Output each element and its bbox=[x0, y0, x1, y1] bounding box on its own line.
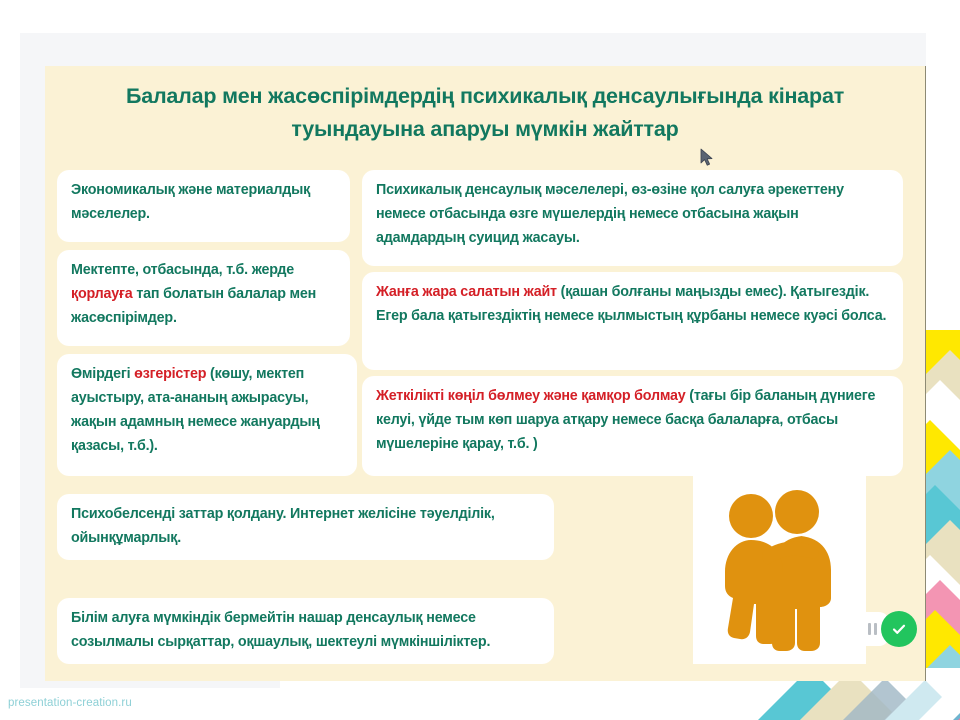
card-substances-text: Психобелсенді заттар қолдану. Интернет ж… bbox=[71, 506, 495, 546]
card-economic-text: Экономикалық және материалдық мәселелер. bbox=[71, 182, 310, 222]
card-bullying: Мектепте, отбасында, т.б. жерде қорлауға… bbox=[57, 250, 350, 346]
pause-icon-bar-left bbox=[868, 623, 871, 635]
card-traumatic-event: Жанға жара салатын жайт (қашан болғаны м… bbox=[362, 272, 903, 370]
card-trauma-highlight: Жанға жара салатын жайт bbox=[376, 284, 557, 300]
card-lifechange-lead: Өмірдегі bbox=[71, 366, 134, 382]
mouse-cursor bbox=[700, 148, 716, 173]
slide-title: Балалар мен жасөспірімдердің психикалық … bbox=[67, 80, 903, 146]
card-bullying-lead: Мектепте, отбасында, т.б. жерде bbox=[71, 262, 294, 278]
card-bullying-highlight: қорлауға bbox=[71, 286, 133, 302]
slide-canvas: Балалар мен жасөспірімдердің психикалық … bbox=[45, 66, 925, 681]
check-icon bbox=[890, 620, 908, 638]
card-life-changes: Өмірдегі өзгерістер (көшу, мектеп ауысты… bbox=[57, 354, 357, 476]
card-education-text: Білім алуға мүмкіндік бермейтін нашар де… bbox=[71, 610, 490, 650]
card-lifechange-highlight: өзгерістер bbox=[134, 366, 206, 382]
two-people-embracing-icon bbox=[705, 484, 855, 654]
watermark: presentation-creation.ru bbox=[8, 697, 132, 709]
card-neglect-highlight: Жеткілікті көңіл бөлмеу және қамқор болм… bbox=[376, 388, 686, 404]
card-economic-problems: Экономикалық және материалдық мәселелер. bbox=[57, 170, 350, 242]
confirm-button[interactable] bbox=[881, 611, 917, 647]
card-mental-health-suicide: Психикалық денсаулық мәселелері, өз-өзін… bbox=[362, 170, 903, 266]
card-education-access: Білім алуға мүмкіндік бермейтін нашар де… bbox=[57, 598, 554, 664]
mouse-pointer-icon bbox=[700, 148, 716, 168]
card-neglect: Жеткілікті көңіл бөлмеу және қамқор болм… bbox=[362, 376, 903, 476]
pause-icon-bar-right bbox=[874, 623, 877, 635]
illustration-panel bbox=[693, 474, 866, 664]
card-suicide-text: Психикалық денсаулық мәселелері, өз-өзін… bbox=[376, 182, 844, 246]
card-substance-use: Психобелсенді заттар қолдану. Интернет ж… bbox=[57, 494, 554, 560]
